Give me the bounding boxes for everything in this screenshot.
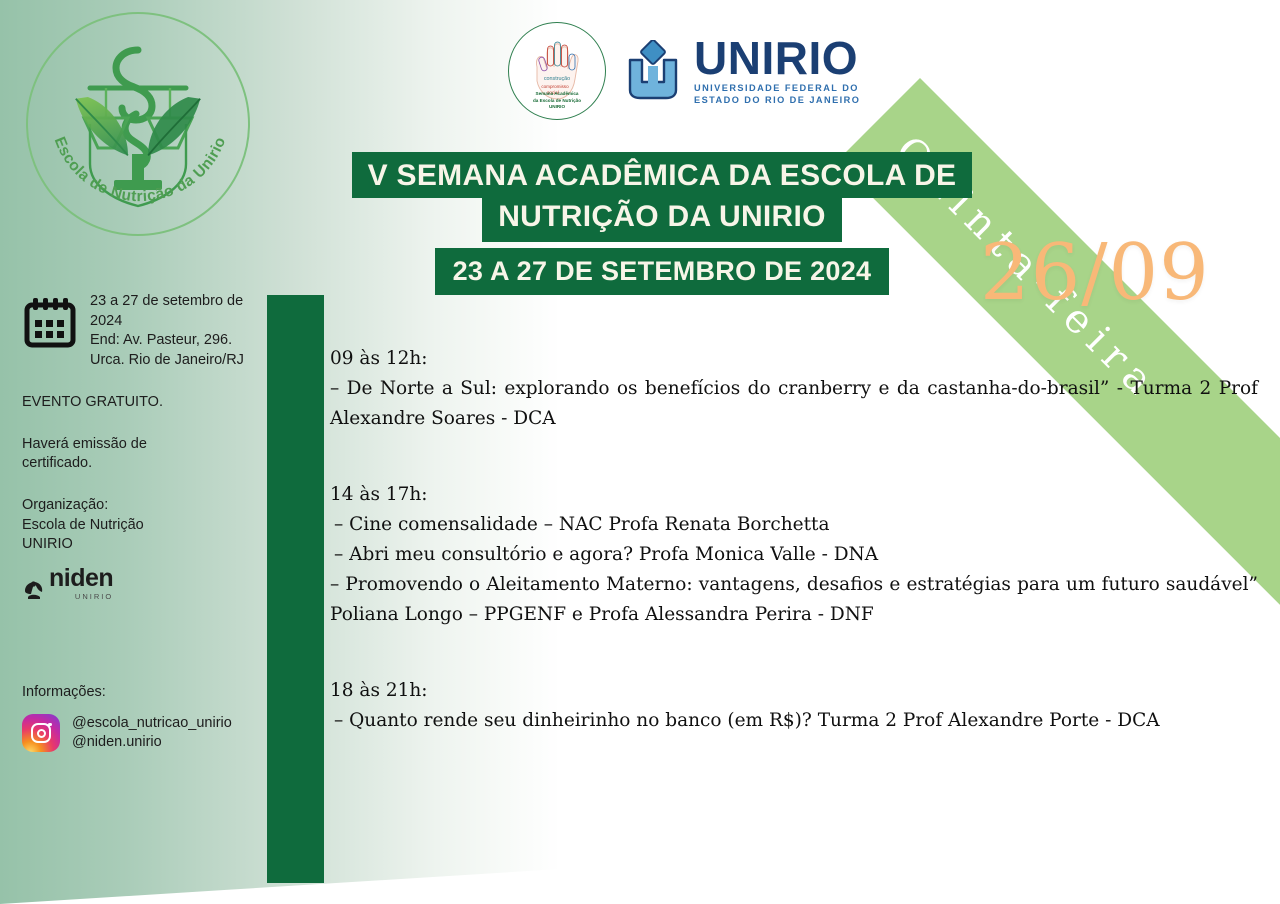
unirio-wordmark: UNIRIO (694, 36, 860, 81)
unirio-subtitle-line-2: ESTADO DO RIO DE JANEIRO (694, 95, 860, 107)
date-address-text: 23 a 27 de setembro de 2024 End: Av. Pas… (90, 292, 258, 371)
schedule-slot: 09 às 12h: – De Norte a Sul: explorando … (330, 344, 1258, 434)
date-badge: 26/09 (980, 234, 1210, 312)
escola-nutricao-logo: Escola de Nutrição da Unirio (26, 12, 250, 236)
instagram-row[interactable]: @escola_nutricao_unirio @niden.unirio (22, 714, 262, 752)
hand-logo-caption-line-3: UNIRIO (509, 104, 605, 110)
instagram-handles[interactable]: @escola_nutricao_unirio @niden.unirio (72, 714, 232, 752)
schedule-slot: 18 às 21h: – Quanto rende seu dinheirinh… (330, 676, 1258, 736)
niden-mark-icon (22, 578, 46, 602)
calendar-icon (22, 296, 78, 348)
free-event-text: EVENTO GRATUITO. (22, 393, 258, 413)
niden-logo: niden UNIRIO (22, 567, 258, 602)
contact-label: Informações: (22, 684, 262, 700)
unirio-subtitle-line-1: UNIVERSIDADE FEDERAL DO (694, 83, 860, 95)
schedule-slot-item: – Promovendo o Aleitamento Materno: vant… (330, 570, 1258, 630)
schedule-slot-time: 14 às 17h: (330, 480, 1258, 510)
schedule-slot-time: 18 às 21h: (330, 676, 1258, 706)
organization-text: Organização: Escola de Nutrição UNIRIO (22, 496, 258, 555)
schedule-slot-item: – De Norte a Sul: explorando os benefíci… (330, 374, 1258, 434)
hand-logo-caption: Semana Acadêmica da Escola de Nutrição U… (509, 91, 605, 110)
hand-logo-palm-word-1: construção (544, 76, 570, 82)
schedule-list: 09 às 12h: – De Norte a Sul: explorando … (330, 344, 1258, 736)
title-banner-dates: 23 A 27 DE SETEMBRO DE 2024 (435, 248, 890, 295)
schedule-slot: 14 às 17h: – Cine comensalidade – NAC Pr… (330, 480, 1258, 630)
schedule-slot-item: – Quanto rende seu dinheirinho no banco … (330, 706, 1258, 736)
title-banner-line-2: NUTRIÇÃO DA UNIRIO (482, 196, 842, 241)
unirio-logo: UNIRIO UNIVERSIDADE FEDERAL DO ESTADO DO… (622, 36, 860, 107)
schedule-slot-time: 09 às 12h: (330, 344, 1258, 374)
certificate-text: Haverá emissão de certificado. (22, 435, 258, 474)
event-info-column: 23 a 27 de setembro de 2024 End: Av. Pas… (22, 292, 258, 602)
event-poster: Quinta-feira 26/09 (0, 0, 1280, 904)
unirio-mark-icon (622, 40, 684, 102)
hand-logo-palm-word-2: compromisso (541, 84, 569, 89)
niden-subtitle: UNIRIO (49, 592, 113, 602)
title-banner-line-1: V SEMANA ACADÊMICA DA ESCOLA DE (352, 152, 973, 198)
schedule-slot-item: – Abri meu consultório e agora? Profa Mo… (330, 540, 1258, 570)
escola-logo-graphic: Escola de Nutrição da Unirio (28, 14, 248, 234)
instagram-icon[interactable] (22, 714, 60, 752)
date-address-row: 23 a 27 de setembro de 2024 End: Av. Pas… (22, 292, 258, 371)
poster-title: V SEMANA ACADÊMICA DA ESCOLA DE NUTRIÇÃO… (332, 152, 992, 295)
schedule-slot-item: – Cine comensalidade – NAC Profa Renata … (330, 510, 1258, 540)
semana-academica-hand-logo: construção compromisso social Semana Aca… (508, 22, 606, 120)
contact-section: Informações: @escola_nutricao_unirio @ni… (22, 684, 262, 752)
green-divider-bar (267, 295, 324, 883)
niden-wordmark: niden (49, 567, 113, 590)
